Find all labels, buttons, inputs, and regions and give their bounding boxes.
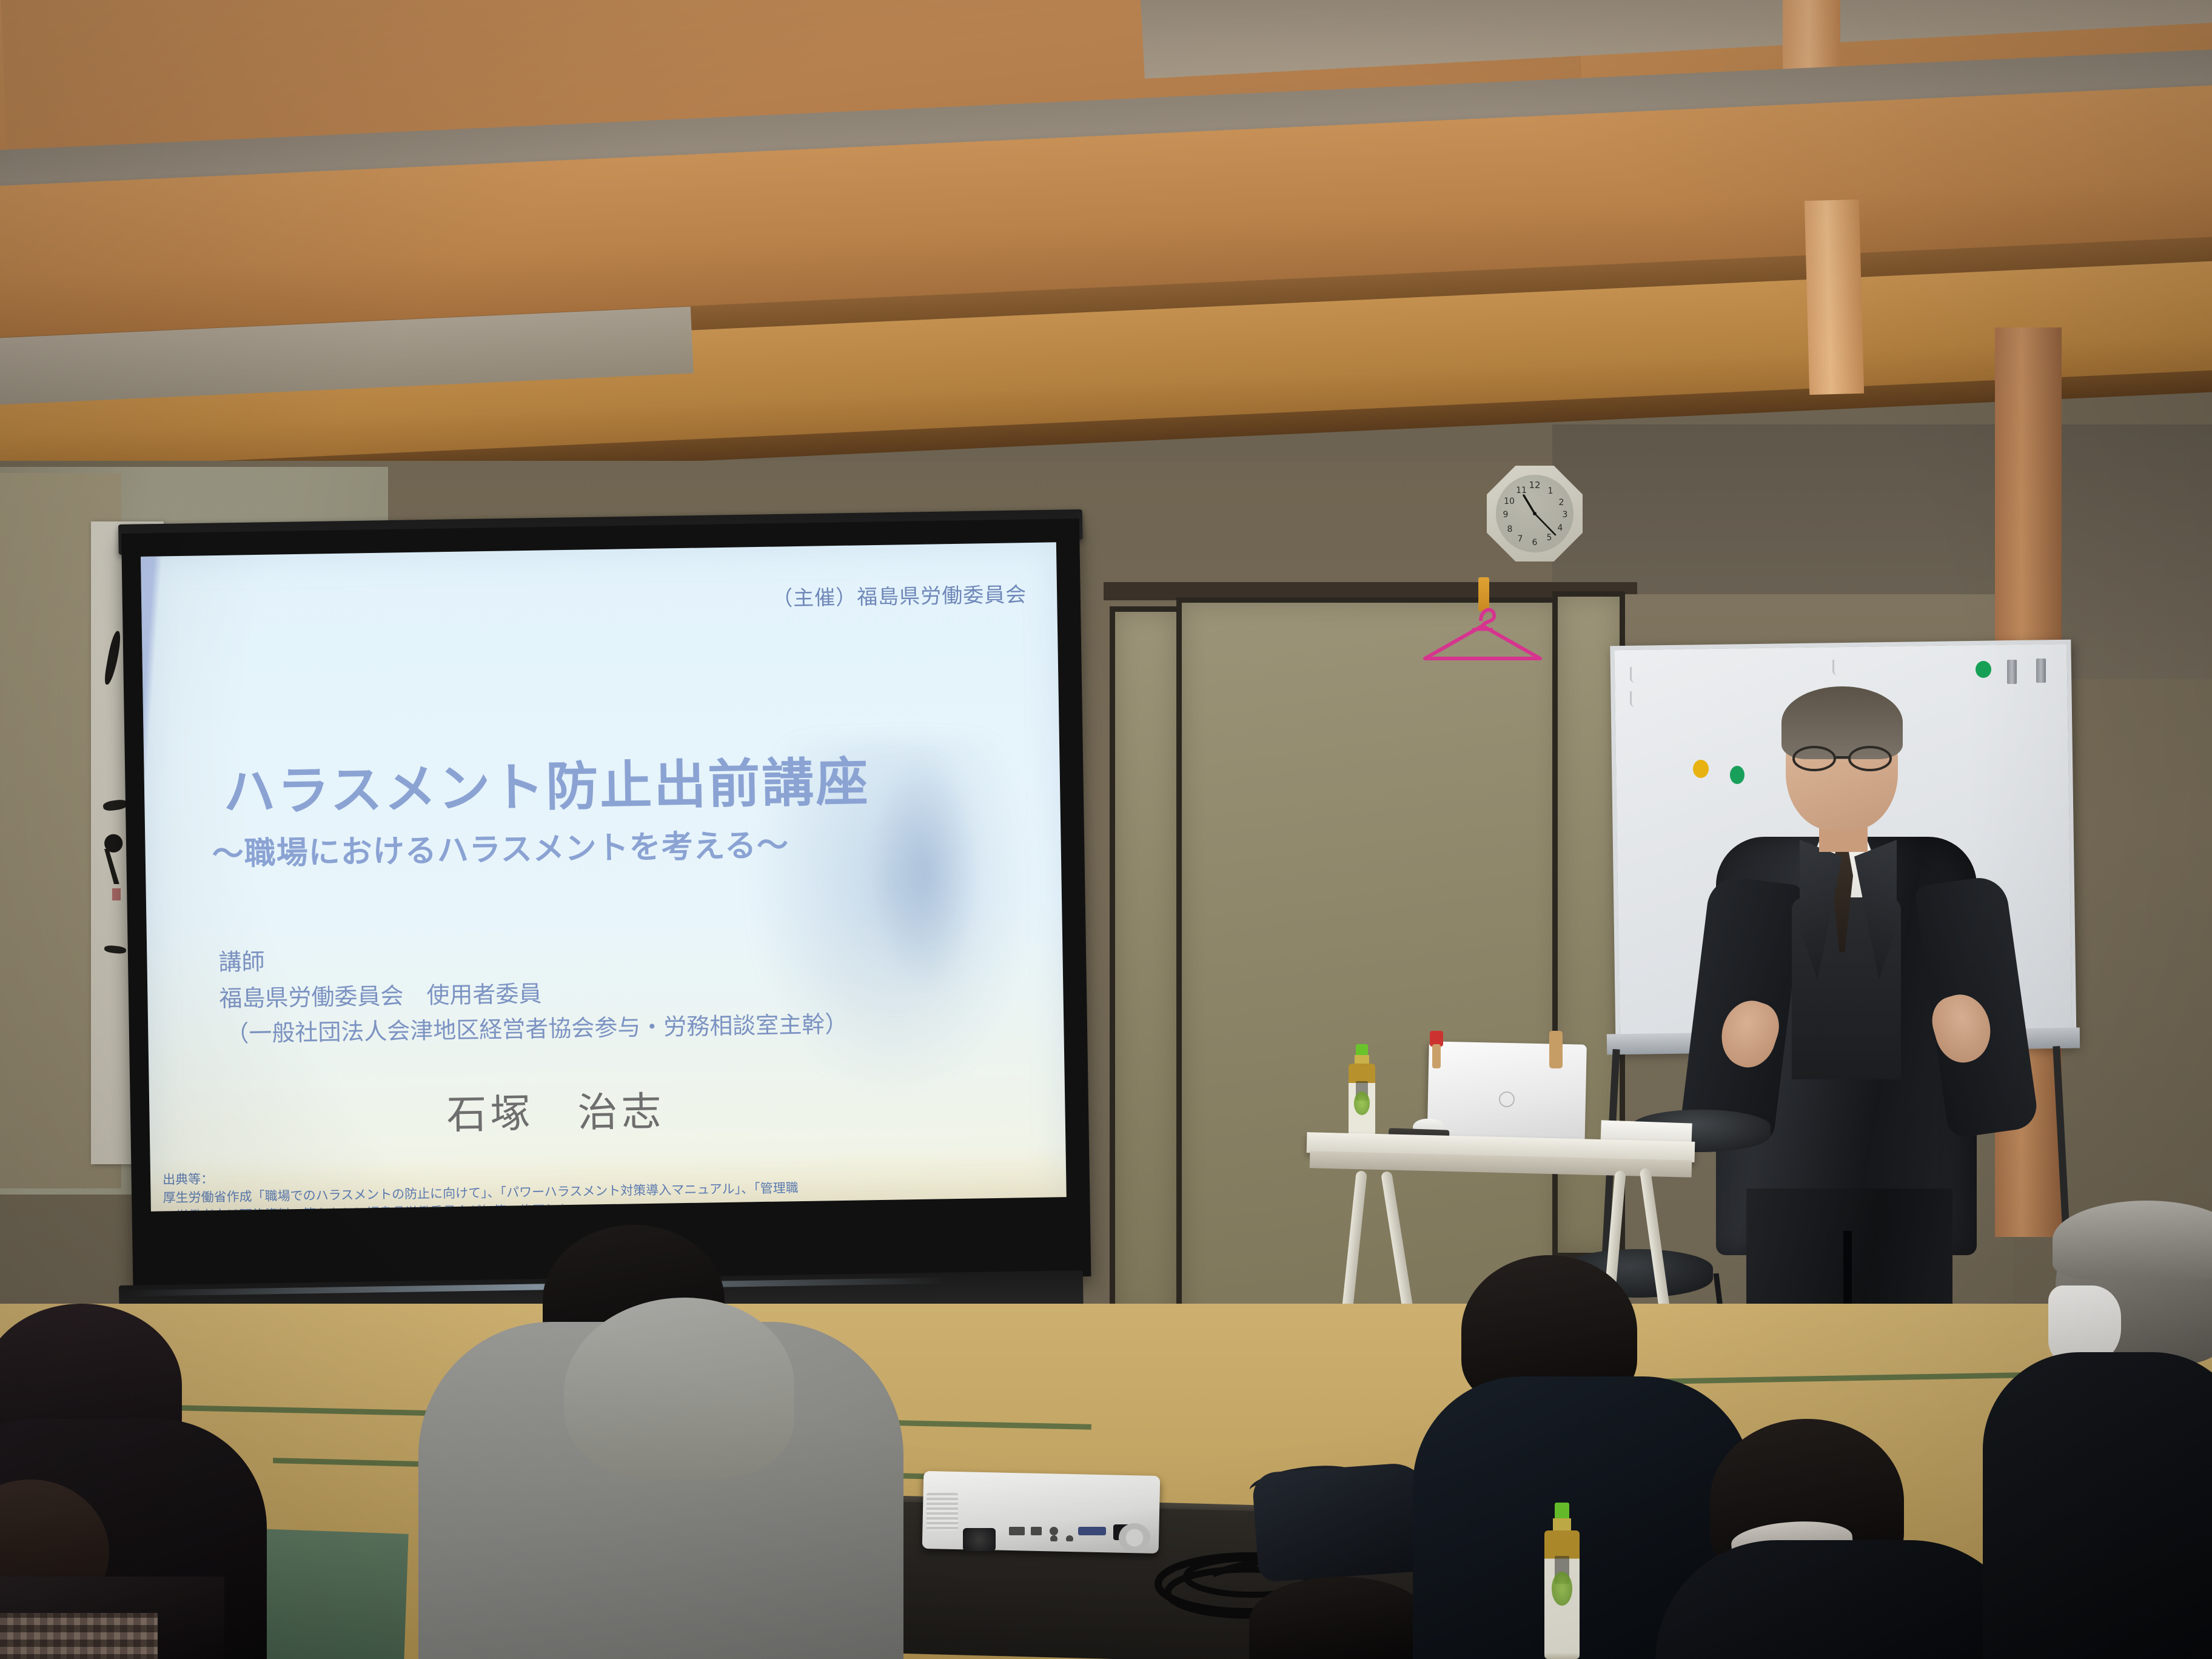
whiteboard-clip[interactable] — [2007, 660, 2017, 684]
svg-text:9: 9 — [1503, 510, 1509, 520]
slide-title: ハラスメント防止出前講座 — [223, 739, 870, 825]
svg-text:5: 5 — [1547, 533, 1552, 543]
plaid-scarf — [0, 1613, 158, 1659]
fusuma-panel-left[interactable] — [1110, 606, 1182, 1322]
fusuma-panel-center[interactable] — [1176, 597, 1564, 1337]
bottle-cap — [1555, 1503, 1570, 1520]
svg-text:10: 10 — [1504, 497, 1515, 506]
slide-subtitle: ～職場におけるハラスメントを考える～ — [212, 819, 789, 874]
svg-text:12: 12 — [1529, 480, 1540, 491]
svg-text:1: 1 — [1548, 486, 1553, 496]
svg-text:4: 4 — [1558, 523, 1563, 533]
svg-text:8: 8 — [1507, 525, 1513, 534]
clothes-hanger-icon[interactable] — [1413, 600, 1552, 667]
screen-shadow — [865, 743, 985, 1000]
svg-text:7: 7 — [1518, 534, 1523, 544]
slide-speaker-name: 石塚 治志 — [446, 1079, 665, 1141]
green-magnet[interactable] — [1976, 661, 1991, 678]
green-tea-bottle[interactable] — [1543, 1503, 1581, 1659]
wooden-clip[interactable] — [1432, 1044, 1441, 1068]
photo-scene: 12 1 2 3 4 5 6 7 8 9 10 11 （主催）福島 — [0, 0, 2212, 1659]
slide-affiliation: 福島県労働委員会 使用者委員 — [219, 975, 542, 1013]
bag-on-floor[interactable] — [1252, 1461, 1435, 1583]
svg-text:2: 2 — [1559, 498, 1564, 508]
whiteboard-hook — [1630, 691, 1635, 707]
laptop-logo-icon — [1499, 1091, 1515, 1107]
svg-text:11: 11 — [1516, 486, 1527, 495]
wooden-post-middle — [1805, 199, 1864, 395]
slide-lecturer-label: 講師 — [218, 943, 265, 977]
slide-source-label: 出典等： — [163, 1169, 213, 1188]
bottle-cap — [1356, 1044, 1367, 1056]
svg-text:6: 6 — [1532, 538, 1538, 548]
scroll-red-seal — [112, 888, 121, 900]
whiteboard-hook — [1630, 667, 1635, 683]
projector-lens — [963, 1528, 996, 1551]
whiteboard-hook — [1832, 660, 1837, 675]
wooden-clip[interactable] — [1549, 1031, 1563, 1068]
whiteboard-clip[interactable] — [2036, 659, 2046, 683]
attendee-masked — [1983, 1352, 2212, 1659]
clock-hands: 12 1 2 3 4 5 6 7 8 9 10 11 — [1496, 475, 1574, 552]
glasses-icon — [1788, 745, 1897, 773]
projection-screen-surface: （主催）福島県労働委員会 ハラスメント防止出前講座 ～職場におけるハラスメントを… — [141, 542, 1067, 1212]
svg-text:3: 3 — [1563, 510, 1568, 520]
projector-vent — [927, 1493, 958, 1530]
slide-organizer: （主催）福島県労働委員会 — [772, 578, 1027, 612]
